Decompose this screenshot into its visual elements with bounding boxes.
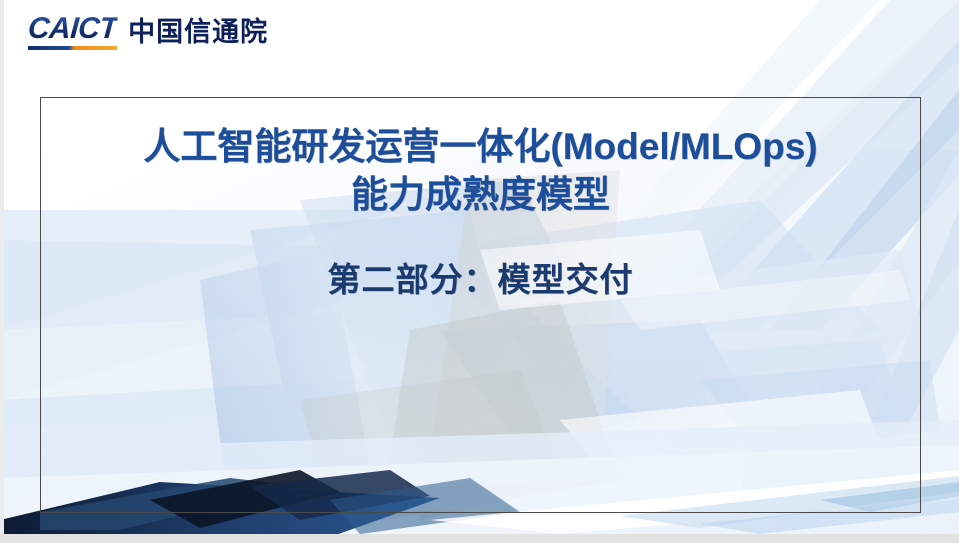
caict-logo: CAICT 中国信通院 — [28, 14, 268, 50]
left-edge-strip — [0, 0, 4, 543]
presentation-slide: CAICT 中国信通院 人工智能研发运营一体化(Model/MLOps) 能力成… — [0, 0, 959, 543]
logo-underline-bar — [28, 46, 117, 50]
content-frame-border — [40, 97, 921, 513]
logo-chinese-name: 中国信通院 — [128, 17, 268, 50]
logo-acronym-text: CAICT — [27, 14, 118, 44]
logo-acronym-block: CAICT — [28, 14, 117, 50]
bottom-gray-strip — [0, 534, 959, 543]
